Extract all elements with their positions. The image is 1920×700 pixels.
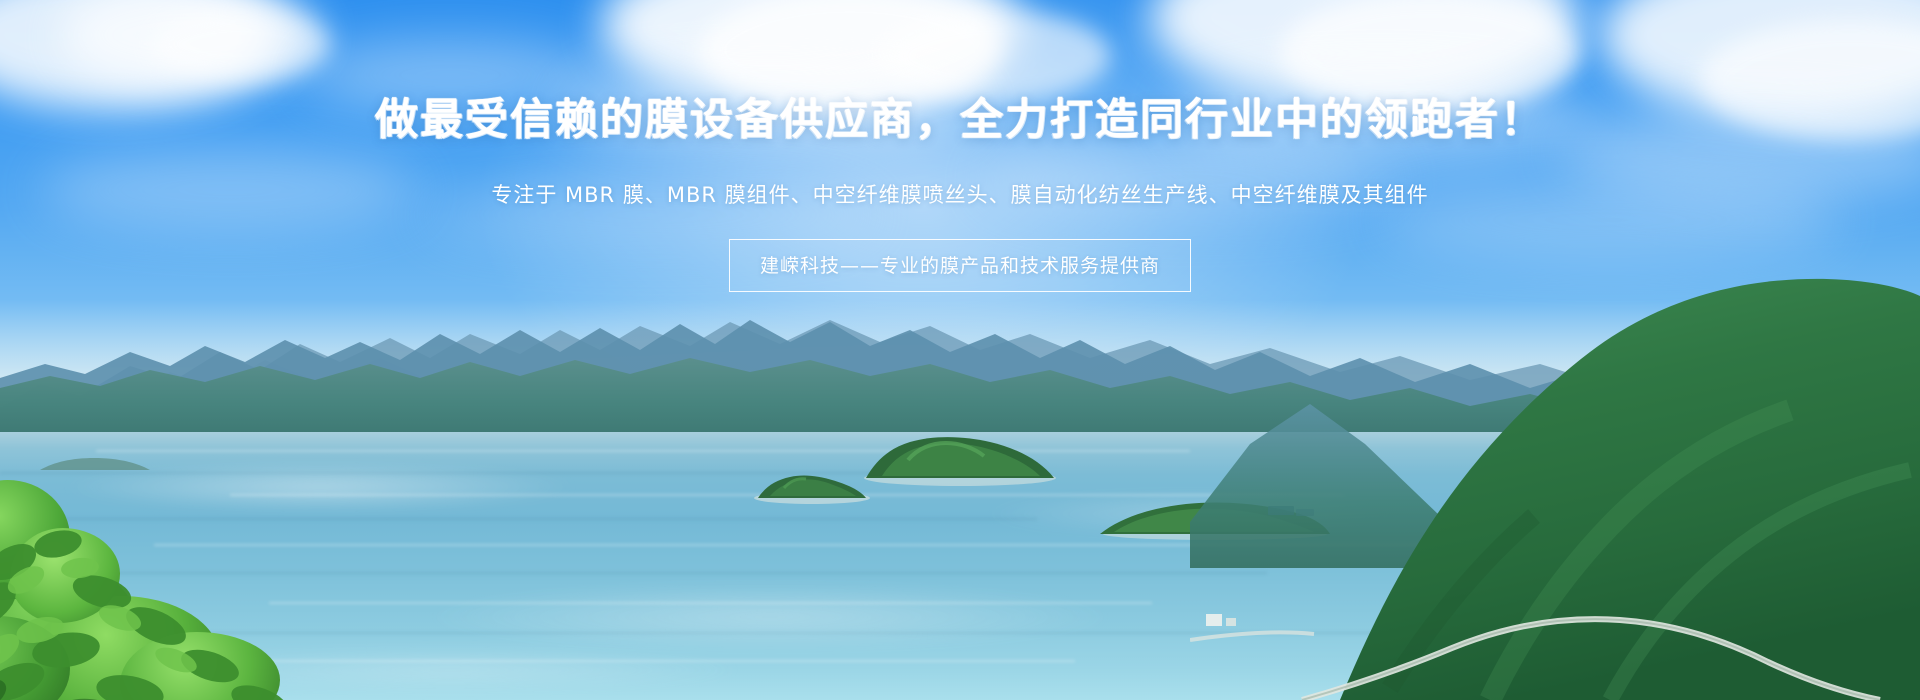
right-headland (1190, 248, 1920, 700)
banner-copy: 做最受信赖的膜设备供应商，全力打造同行业中的领跑者！ 专注于 MBR 膜、MBR… (0, 96, 1920, 292)
island-small-left (752, 468, 872, 504)
banner-tagline-wrap: 建嵘科技——专业的膜产品和技术服务提供商 (0, 239, 1920, 292)
hero-banner: 做最受信赖的膜设备供应商，全力打造同行业中的领跑者！ 专注于 MBR 膜、MBR… (0, 0, 1920, 700)
banner-subheadline: 专注于 MBR 膜、MBR 膜组件、中空纤维膜喷丝头、膜自动化纺丝生产线、中空纤… (0, 179, 1920, 209)
island-large-center (860, 430, 1060, 486)
foreground-foliage (0, 420, 390, 700)
banner-tagline-box: 建嵘科技——专业的膜产品和技术服务提供商 (729, 239, 1191, 292)
banner-headline: 做最受信赖的膜设备供应商，全力打造同行业中的领跑者！ (0, 96, 1920, 145)
